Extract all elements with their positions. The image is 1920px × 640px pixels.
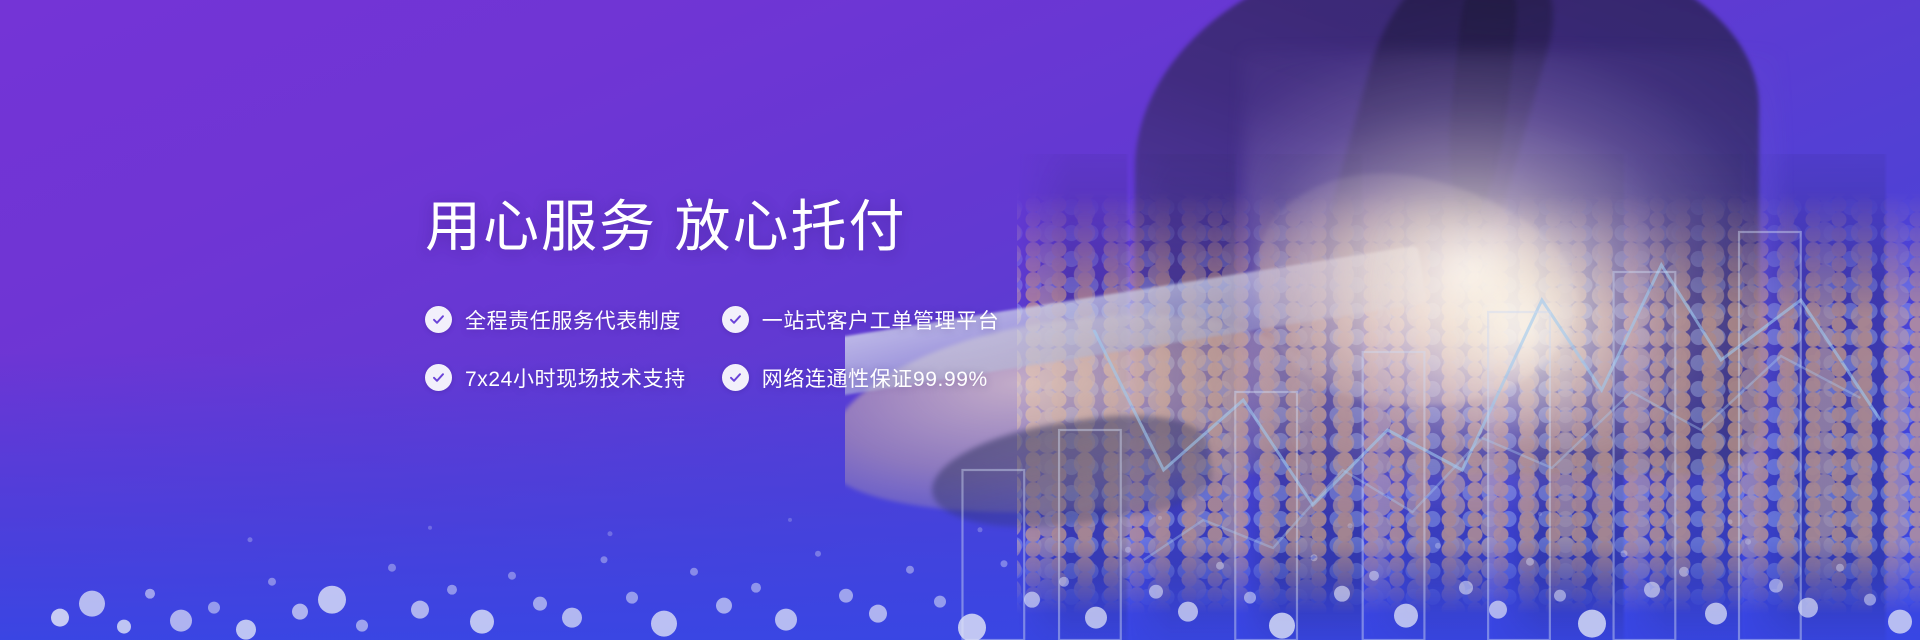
light-bloom-core	[1382, 218, 1662, 436]
check-circle-icon	[722, 364, 749, 391]
feature-label: 网络连通性保证99.99%	[762, 363, 988, 393]
feature-label: 7x24小时现场技术支持	[465, 363, 686, 393]
feature-item: 一站式客户工单管理平台	[722, 305, 1000, 335]
check-circle-icon	[425, 364, 452, 391]
feature-item: 全程责任服务代表制度	[425, 305, 686, 335]
feature-item: 7x24小时现场技术支持	[425, 363, 686, 393]
check-circle-icon	[722, 306, 749, 333]
page-title: 用心服务 放心托付	[425, 196, 999, 259]
hero-photo	[845, 0, 1920, 640]
feature-label: 一站式客户工单管理平台	[762, 305, 1000, 335]
feature-label: 全程责任服务代表制度	[465, 305, 681, 335]
feature-list: 全程责任服务代表制度 一站式客户工单管理平台 7x24小时现场技术支持	[425, 305, 999, 393]
hero-banner: 用心服务 放心托付 全程责任服务代表制度 一站式客户工单管理平台	[0, 0, 1920, 640]
check-circle-icon	[425, 306, 452, 333]
banner-copy-block: 用心服务 放心托付 全程责任服务代表制度 一站式客户工单管理平台	[425, 196, 999, 393]
feature-item: 网络连通性保证99.99%	[722, 363, 1000, 393]
